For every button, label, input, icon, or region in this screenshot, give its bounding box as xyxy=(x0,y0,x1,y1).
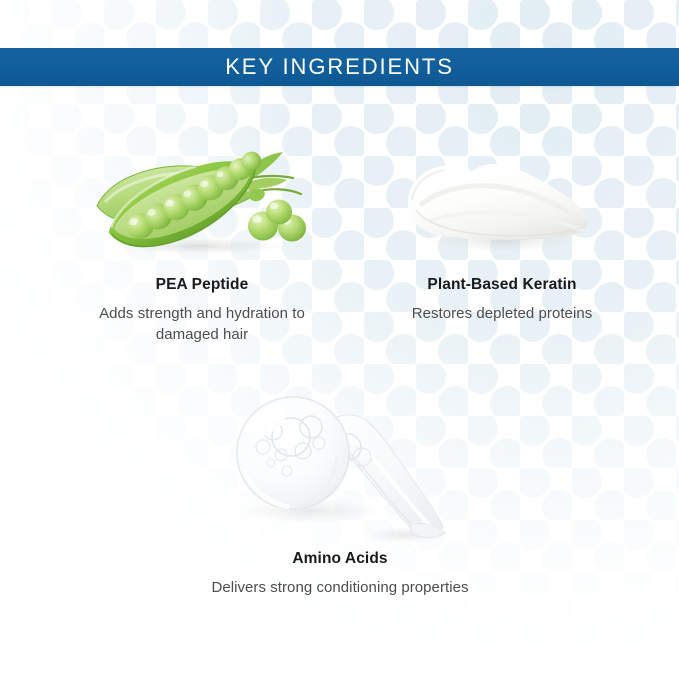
ingredient-card-amino-acids: Amino Acids Delivers strong conditioning… xyxy=(150,385,530,598)
ingredient-card-pea-peptide: PEA Peptide Adds strength and hydration … xyxy=(42,140,362,345)
ingredient-card-plant-based-keratin: Plant-Based Keratin Restores depleted pr… xyxy=(352,140,652,324)
infographic-page: KEY INGREDIENTS xyxy=(0,0,679,679)
pea-pod-icon xyxy=(87,140,317,260)
ingredient-name: PEA Peptide xyxy=(156,276,249,295)
ingredient-name: Amino Acids xyxy=(292,550,387,569)
banner-title: KEY INGREDIENTS xyxy=(225,56,454,78)
clear-gel-droplet-icon xyxy=(215,385,465,545)
ingredient-description: Delivers strong conditioning properties xyxy=(150,577,530,598)
cream-swatch-icon xyxy=(392,140,612,260)
ingredient-description: Adds strength and hydration to damaged h… xyxy=(82,303,322,346)
ingredient-description: Restores depleted proteins xyxy=(412,303,593,324)
key-ingredients-banner: KEY INGREDIENTS xyxy=(0,48,679,86)
ingredient-name: Plant-Based Keratin xyxy=(427,276,576,295)
